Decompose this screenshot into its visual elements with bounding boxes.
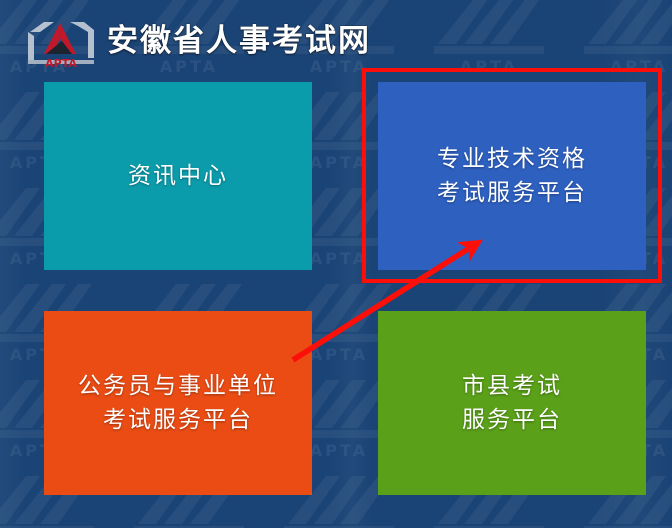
svg-text:APTA: APTA [310,153,368,172]
card-professional-qualification-line-1: 专业技术资格 [437,142,587,176]
card-civil-servant-line-1: 公务员与事业单位 [78,369,278,403]
svg-text:APTA: APTA [310,441,368,460]
page-title: 安徽省人事考试网 [107,19,371,63]
svg-text:APTA: APTA [310,345,368,364]
svg-text:APTA: APTA [310,249,368,268]
apta-mountain-logo-icon: APTA [24,16,98,70]
card-professional-qualification-line-2: 考试服务平台 [437,176,587,210]
logo-wordmark: APTA [45,57,77,70]
card-city-county-line-1: 市县考试 [462,369,562,403]
card-news-center-line-1: 资讯中心 [128,159,228,193]
card-news-center[interactable]: 资讯中心 [44,82,312,270]
site-header: APTA 安徽省人事考试网 [0,0,672,78]
card-professional-qualification[interactable]: 专业技术资格 考试服务平台 [378,82,646,270]
card-civil-servant-line-2: 考试服务平台 [103,403,253,437]
card-civil-servant[interactable]: 公务员与事业单位 考试服务平台 [44,311,312,495]
page-root: APTAAPTAAPTAAPTAAPTAAPTAAPTAAPTAAPTAAPTA… [0,0,672,528]
card-city-county[interactable]: 市县考试 服务平台 [378,311,646,495]
card-city-county-line-2: 服务平台 [462,403,562,437]
